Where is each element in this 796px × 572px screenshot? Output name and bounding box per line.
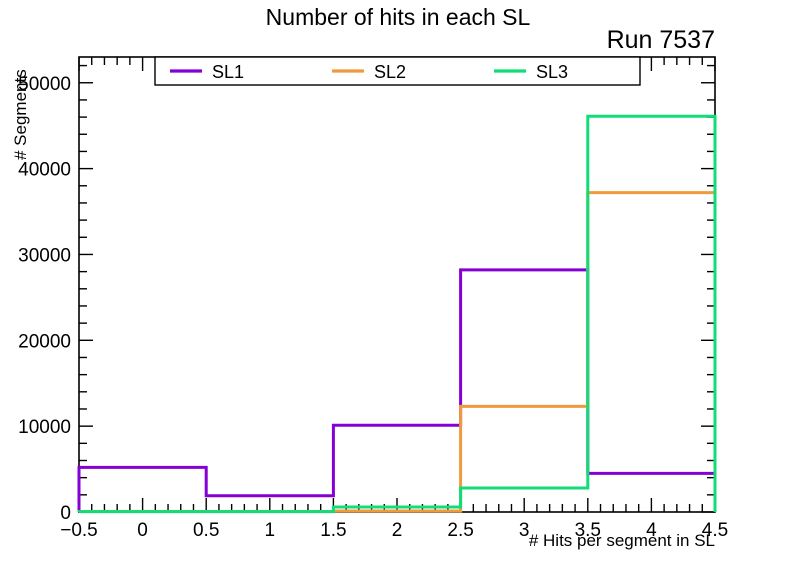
y-axis-ticks: 01000020000300004000050000 bbox=[18, 66, 715, 524]
histogram-series-sl2 bbox=[79, 193, 715, 512]
y-tick-label: 30000 bbox=[18, 245, 71, 266]
y-axis-title: # Segments bbox=[11, 69, 30, 160]
histogram-svg: Number of hits in each SL Run 7537 01000… bbox=[0, 0, 796, 572]
run-annotation: Run 7537 bbox=[607, 26, 715, 54]
legend: SL1SL2SL3 bbox=[155, 57, 640, 85]
legend-label-sl3: SL3 bbox=[536, 62, 568, 82]
x-tick-label: 2 bbox=[392, 520, 403, 541]
plot-frame bbox=[79, 57, 715, 512]
x-tick-label: −0.5 bbox=[60, 520, 98, 541]
x-tick-label: 0 bbox=[137, 520, 148, 541]
page-title: Number of hits in each SL bbox=[266, 4, 531, 30]
legend-label-sl1: SL1 bbox=[212, 62, 244, 82]
legend-label-sl2: SL2 bbox=[374, 62, 406, 82]
y-tick-label: 40000 bbox=[18, 160, 71, 181]
histogram-series-sl3 bbox=[79, 116, 715, 512]
x-tick-label: 1 bbox=[265, 520, 276, 541]
x-axis-title: # Hits per segment in SL bbox=[529, 531, 715, 550]
histogram-series-layer bbox=[79, 116, 715, 512]
x-tick-label: 0.5 bbox=[193, 520, 219, 541]
y-tick-label: 20000 bbox=[18, 331, 71, 352]
histogram-series-sl1 bbox=[79, 270, 715, 512]
x-tick-label: 1.5 bbox=[320, 520, 346, 541]
root-canvas-plot: Number of hits in each SL Run 7537 01000… bbox=[0, 0, 796, 572]
x-tick-label: 2.5 bbox=[447, 520, 473, 541]
y-tick-label: 10000 bbox=[18, 417, 71, 438]
